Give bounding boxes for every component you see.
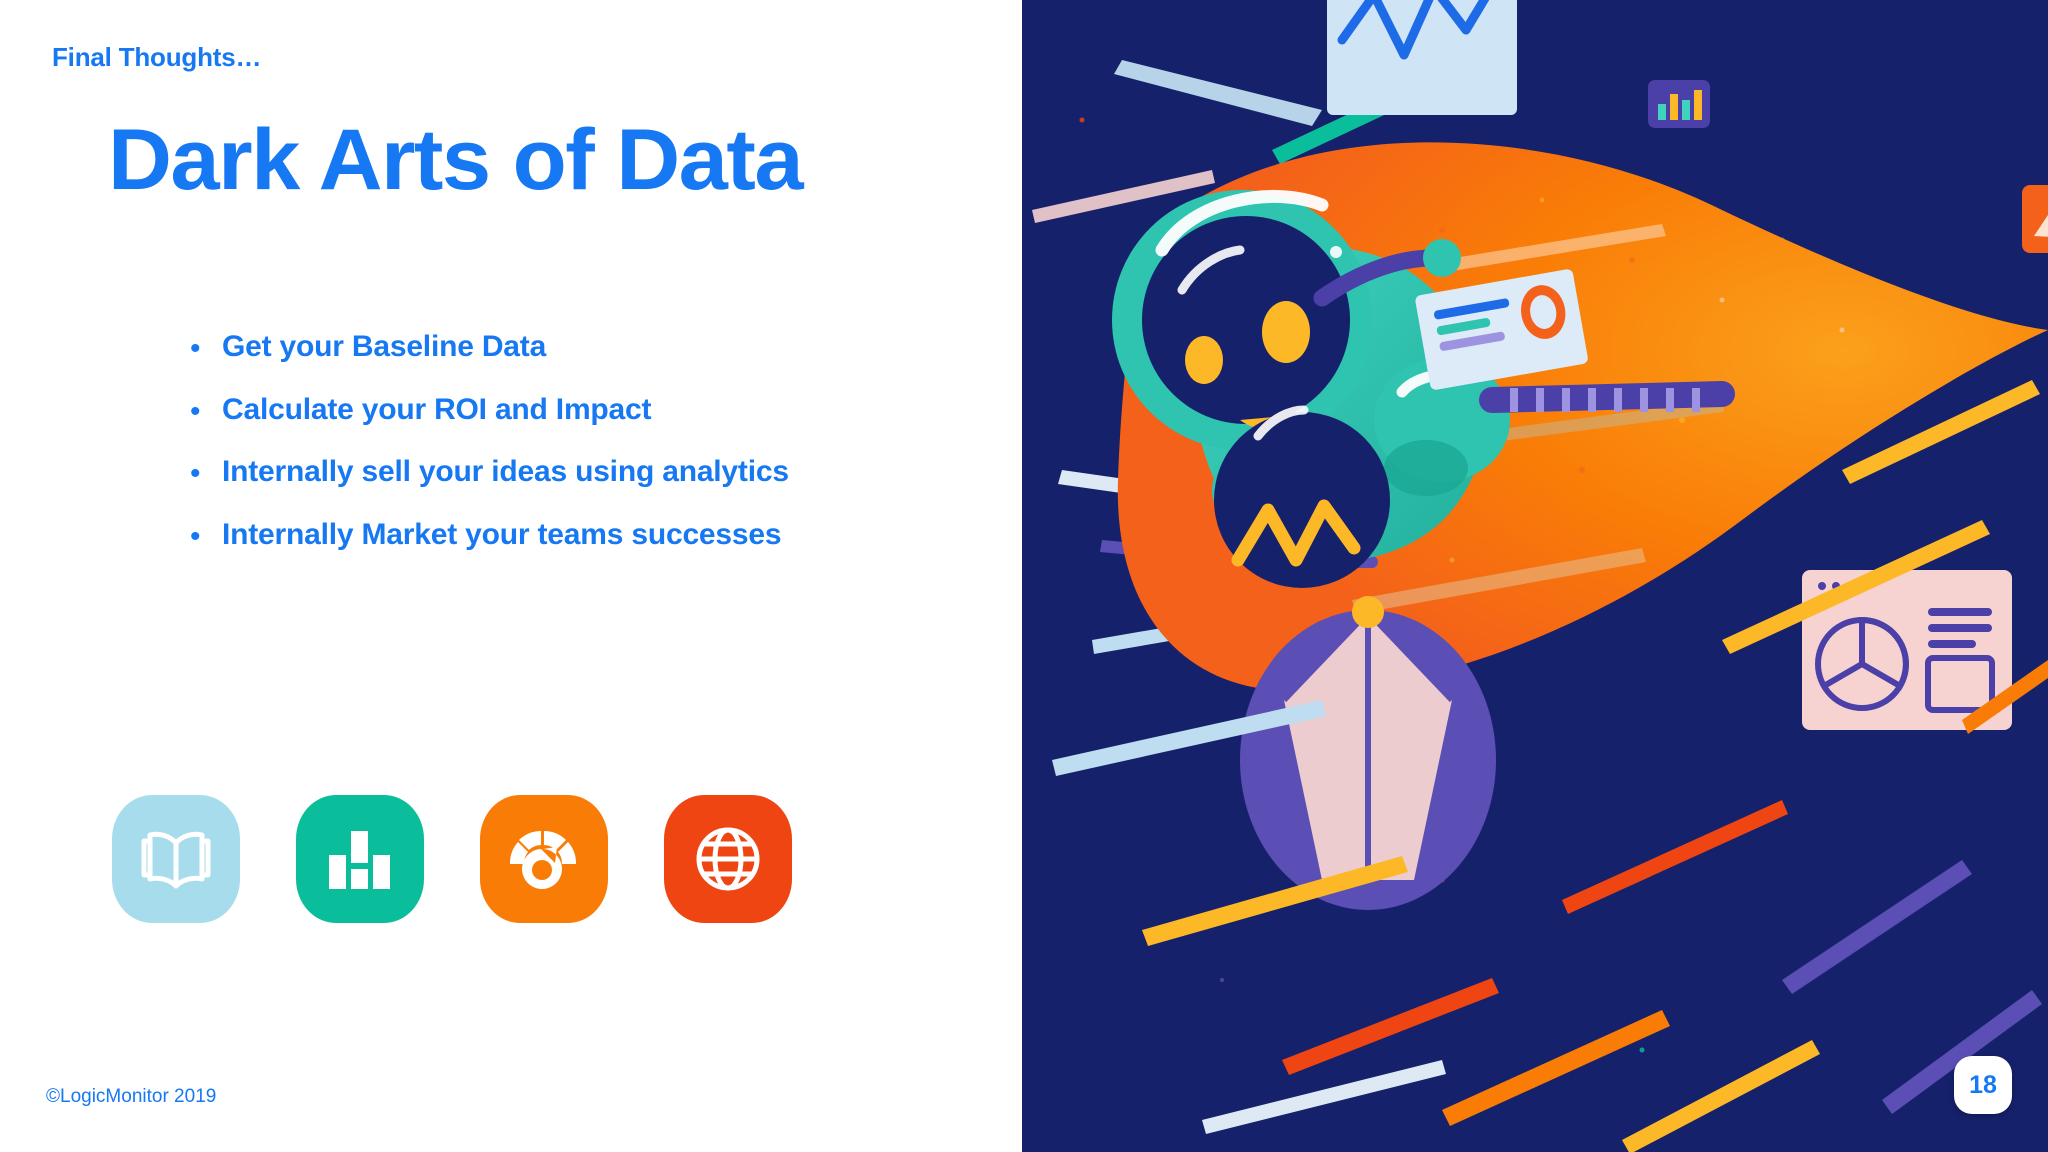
list-item: • Internally sell your ideas using analy…	[186, 453, 866, 496]
list-item: • Calculate your ROI and Impact	[186, 391, 866, 434]
bullet-marker-icon: •	[186, 453, 222, 496]
page-title: Dark Arts of Data	[108, 117, 802, 203]
bullet-marker-icon: •	[186, 516, 222, 559]
globe-icon[interactable]	[664, 795, 792, 923]
list-item: • Get your Baseline Data	[186, 328, 866, 371]
bullet-text: Internally Market your teams successes	[222, 516, 781, 554]
bullet-marker-icon: •	[186, 328, 222, 371]
copyright-notice: ©LogicMonitor 2019	[46, 1086, 216, 1108]
illustration-pane: 18	[1022, 0, 2048, 1152]
bar-chart-icon[interactable]	[296, 795, 424, 923]
bullet-text: Calculate your ROI and Impact	[222, 391, 651, 429]
bullet-text: Internally sell your ideas using analyti…	[222, 453, 789, 491]
icon-row	[112, 795, 792, 923]
slide-root: Final Thoughts… Dark Arts of Data • Get …	[0, 0, 2048, 1152]
bullet-marker-icon: •	[186, 391, 222, 434]
kicker-label: Final Thoughts…	[52, 42, 261, 73]
bullet-text: Get your Baseline Data	[222, 328, 546, 366]
list-item: • Internally Market your teams successes	[186, 516, 866, 559]
bullet-list: • Get your Baseline Data • Calculate you…	[186, 328, 866, 578]
content-pane: Final Thoughts… Dark Arts of Data • Get …	[0, 0, 1022, 1152]
page-number-badge: 18	[1954, 1056, 2012, 1114]
gauge-icon[interactable]	[480, 795, 608, 923]
open-book-icon[interactable]	[112, 795, 240, 923]
